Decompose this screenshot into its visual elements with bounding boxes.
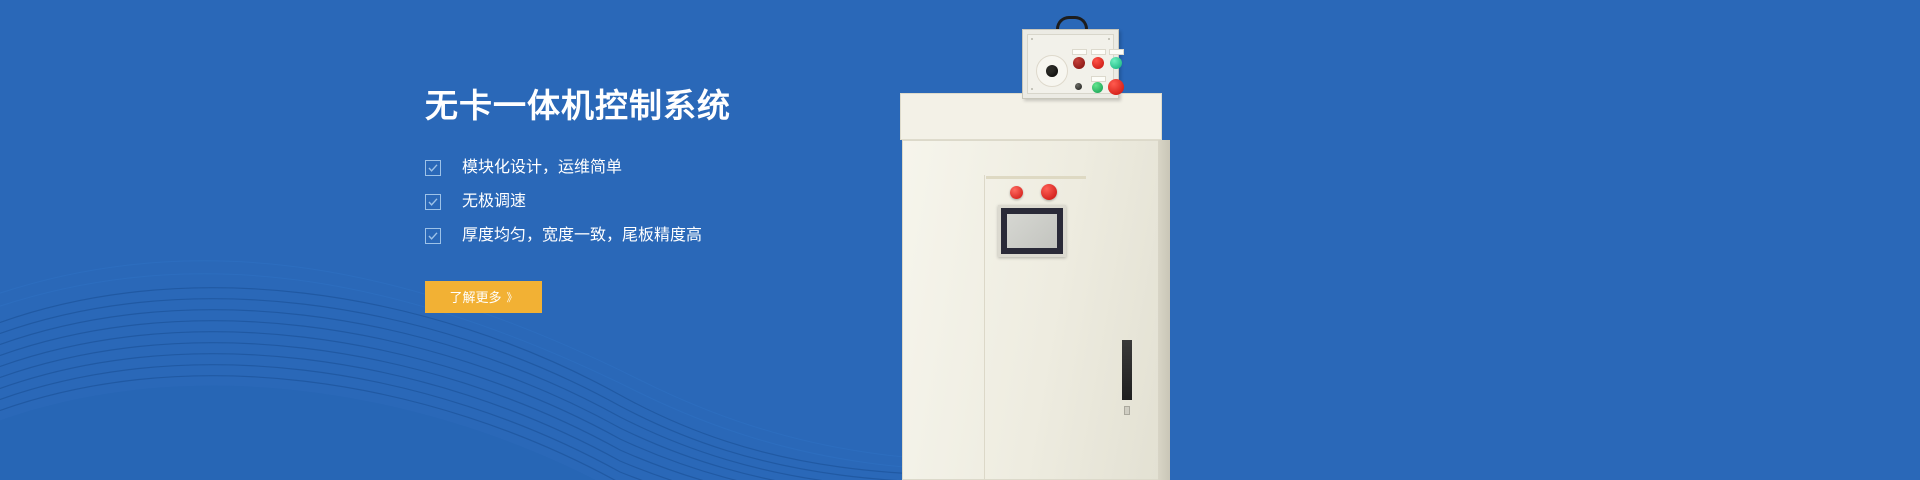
banner-content: 无卡一体机控制系统 模块化设计，运维简单 无极调速	[425, 86, 985, 313]
lamp-label-tag	[1072, 49, 1087, 55]
learn-more-label: 了解更多	[449, 287, 501, 306]
learn-more-button[interactable]: 了解更多 》	[425, 281, 542, 313]
feature-label: 厚度均匀，宽度一致，尾板精度高	[462, 228, 702, 244]
indicator-black-small[interactable]	[1075, 83, 1082, 90]
chevron-right-icon: 》	[507, 289, 518, 305]
check-square-icon	[425, 228, 441, 244]
indicator-red[interactable]	[1092, 57, 1104, 69]
cabinet-side-panel	[1158, 140, 1170, 480]
panel-screw	[1031, 88, 1033, 90]
indicator-dark-red[interactable]	[1073, 57, 1085, 69]
hmi-screen-surface	[1007, 214, 1057, 248]
indicator-green-2[interactable]	[1092, 82, 1103, 93]
operator-panel-face	[1027, 34, 1114, 94]
feature-label: 无极调速	[462, 194, 526, 210]
page-title: 无卡一体机控制系统	[425, 86, 985, 126]
check-square-icon	[425, 194, 441, 210]
hmi-touchscreen[interactable]	[998, 205, 1066, 257]
check-square-icon	[425, 160, 441, 176]
indicator-green[interactable]	[1110, 57, 1122, 69]
list-item: 模块化设计，运维简单	[425, 160, 985, 176]
rotary-selector-knob[interactable]	[1036, 55, 1068, 87]
emergency-stop-red[interactable]	[1108, 79, 1124, 95]
panel-button-red-2[interactable]	[1041, 184, 1057, 200]
cabinet-door-rail	[986, 176, 1086, 179]
list-item: 厚度均匀，宽度一致，尾板精度高	[425, 228, 985, 244]
hero-banner: 无卡一体机控制系统 模块化设计，运维简单 无极调速	[0, 0, 1920, 480]
ventilation-strip	[1122, 340, 1132, 400]
lamp-label-tag	[1109, 49, 1124, 55]
feature-label: 模块化设计，运维简单	[462, 160, 622, 176]
cabinet-lock[interactable]	[1124, 406, 1130, 415]
list-item: 无极调速	[425, 194, 985, 210]
panel-screw	[1031, 38, 1033, 40]
feature-list: 模块化设计，运维简单 无极调速 厚度均匀，宽度一致，尾板精度高	[425, 160, 985, 244]
operator-panel-box	[1022, 29, 1119, 99]
panel-button-red-1[interactable]	[1010, 186, 1023, 199]
panel-screw	[1108, 38, 1110, 40]
lamp-label-tag	[1091, 49, 1106, 55]
